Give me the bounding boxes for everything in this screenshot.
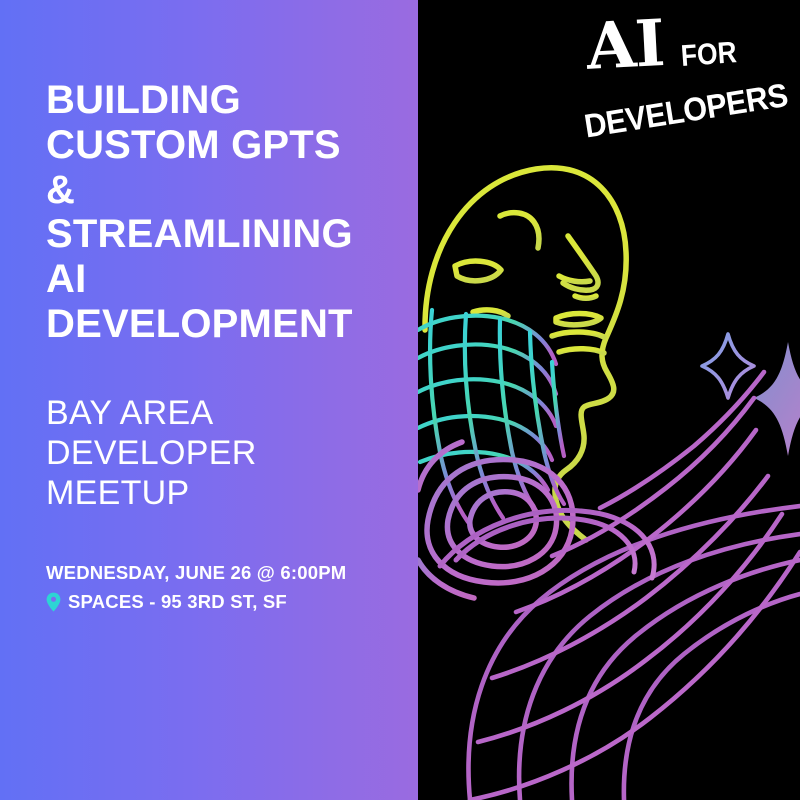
headline-line: STREAMLINING [46,212,418,257]
page-subtitle: BAY AREA DEVELOPER MEETUP [46,393,418,513]
headline-line: DEVELOPMENT [46,302,418,347]
headline-line: CUSTOM GPTS [46,123,418,168]
wireframe-surface [468,372,800,800]
event-datetime: WEDNESDAY, JUNE 26 @ 6:00PM [46,559,418,588]
event-location-text: SPACES - 95 3RD ST, SF [68,588,287,617]
event-location: SPACES - 95 3RD ST, SF [46,588,418,617]
neon-artwork [418,0,800,800]
sparkle-large [754,342,800,456]
info-panel: BUILDING CUSTOM GPTS & STREAMLINING AI D… [0,0,418,800]
subtitle-line: DEVELOPER [46,433,418,473]
event-datetime-text: WEDNESDAY, JUNE 26 @ 6:00PM [46,559,346,588]
event-poster: AI FOR DEVELOPERS BUILDING CUSTOM GPTS &… [0,0,800,800]
subtitle-line: MEETUP [46,473,418,513]
headline-line: BUILDING [46,78,418,123]
sparkle-small [702,334,754,398]
headline-line: AI [46,257,418,302]
head-profile-outline [425,168,626,540]
event-details: WEDNESDAY, JUNE 26 @ 6:00PM SPACES - 95 … [46,559,418,616]
page-title: BUILDING CUSTOM GPTS & STREAMLINING AI D… [46,78,418,347]
headline-line: & [46,168,418,213]
artwork-panel [418,0,800,800]
location-pin-icon [46,592,61,612]
subtitle-line: BAY AREA [46,393,418,433]
text-stack: BUILDING CUSTOM GPTS & STREAMLINING AI D… [46,78,418,616]
